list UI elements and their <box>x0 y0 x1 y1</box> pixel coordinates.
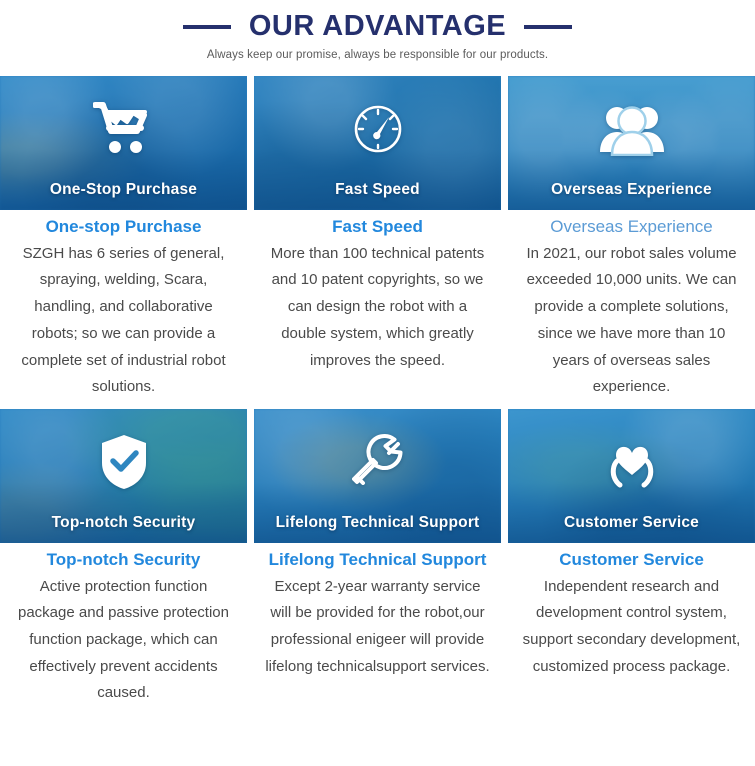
card-text: More than 100 technical patents and 10 p… <box>264 241 491 374</box>
speedometer-icon <box>254 98 501 160</box>
advantage-card-overseas-experience[interactable]: Overseas Experience Overseas Experience … <box>508 76 755 401</box>
banner-label: Fast Speed <box>254 181 501 199</box>
advantage-page: OUR ADVANTAGE Always keep our promise, a… <box>0 0 755 766</box>
advantage-card-customer-service[interactable]: Customer Service Customer Service Indepe… <box>508 409 755 707</box>
card-body: Fast Speed More than 100 technical paten… <box>254 210 501 374</box>
page-header: OUR ADVANTAGE Always keep our promise, a… <box>0 0 755 61</box>
title-row: OUR ADVANTAGE <box>0 10 755 43</box>
advantage-card-top-notch-security[interactable]: Top-notch Security Top-notch Security Ac… <box>0 409 247 707</box>
card-banner: Fast Speed <box>254 76 501 210</box>
card-body: One-stop Purchase SZGH has 6 series of g… <box>0 210 247 401</box>
card-text: In 2021, our robot sales volume exceeded… <box>518 241 745 401</box>
page-title: OUR ADVANTAGE <box>249 10 506 43</box>
shopping-cart-icon <box>0 98 247 160</box>
card-heading: One-stop Purchase <box>10 216 237 238</box>
banner-label: Overseas Experience <box>508 181 755 199</box>
card-heading: Top-notch Security <box>10 549 237 571</box>
page-subtitle: Always keep our promise, always be respo… <box>0 49 755 61</box>
card-body: Customer Service Independent research an… <box>508 543 755 681</box>
card-body: Top-notch Security Active protection fun… <box>0 543 247 707</box>
advantage-card-lifelong-technical-support[interactable]: Lifelong Technical Support Lifelong Tech… <box>254 409 501 707</box>
banner-label: One-Stop Purchase <box>0 181 247 199</box>
card-heading: Customer Service <box>518 549 745 571</box>
card-banner: Top-notch Security <box>0 409 247 543</box>
wrench-icon <box>254 431 501 493</box>
card-body: Lifelong Technical Support Except 2-year… <box>254 543 501 681</box>
title-dash-right <box>524 25 572 29</box>
card-text: Independent research and development con… <box>518 574 745 681</box>
card-body: Overseas Experience In 2021, our robot s… <box>508 210 755 401</box>
heart-in-hands-icon <box>508 431 755 493</box>
card-text: Except 2-year warranty service will be p… <box>264 574 491 681</box>
title-dash-left <box>183 25 231 29</box>
card-text: Active protection function package and p… <box>10 574 237 707</box>
card-banner: Overseas Experience <box>508 76 755 210</box>
card-heading: Lifelong Technical Support <box>264 549 491 571</box>
card-text: SZGH has 6 series of general, spraying, … <box>10 241 237 401</box>
shield-check-icon <box>0 431 247 493</box>
card-banner: Lifelong Technical Support <box>254 409 501 543</box>
card-banner: One-Stop Purchase <box>0 76 247 210</box>
advantage-card-fast-speed[interactable]: Fast Speed Fast Speed More than 100 tech… <box>254 76 501 401</box>
card-heading: Fast Speed <box>264 216 491 238</box>
people-group-icon <box>508 98 755 160</box>
advantage-grid: One-Stop Purchase One-stop Purchase SZGH… <box>0 76 755 707</box>
card-heading: Overseas Experience <box>518 216 745 238</box>
banner-label: Lifelong Technical Support <box>254 514 501 532</box>
banner-label: Customer Service <box>508 514 755 532</box>
banner-label: Top-notch Security <box>0 514 247 532</box>
card-banner: Customer Service <box>508 409 755 543</box>
advantage-card-one-stop-purchase[interactable]: One-Stop Purchase One-stop Purchase SZGH… <box>0 76 247 401</box>
